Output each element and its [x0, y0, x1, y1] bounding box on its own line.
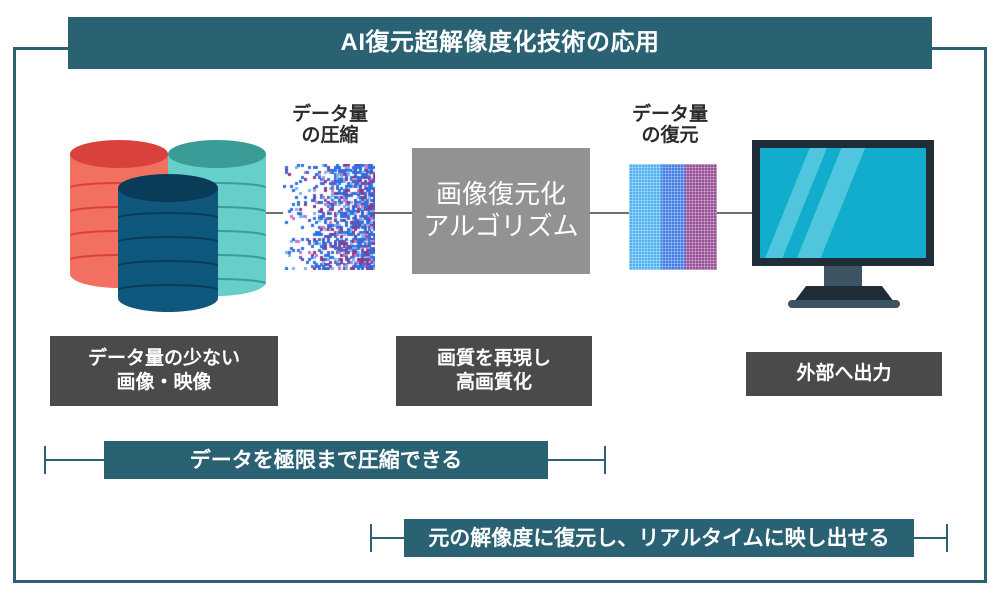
- page-title: AI復元超解像度化技術の応用: [341, 31, 660, 55]
- caption-box-middle: 画質を再現し 高画質化: [396, 336, 592, 406]
- algorithm-line2: アルゴリズム: [423, 211, 578, 243]
- database-icon: [60, 132, 280, 312]
- bracket-compression: データを極限まで圧縮できる: [44, 441, 606, 479]
- compress-label-line2: の圧縮: [268, 125, 392, 146]
- compress-step-label: データ量 の圧縮: [268, 104, 392, 147]
- bracket-label-box-compression: データを極限まで圧縮できる: [104, 441, 548, 479]
- restore-step-label: データ量 の復元: [608, 104, 732, 147]
- caption-middle-line2: 高画質化: [456, 372, 532, 393]
- outer-frame: [13, 47, 987, 583]
- monitor-neck: [824, 266, 862, 288]
- bracket-restoration-text: 元の解像度に復元し、リアルタイムに映し出せる: [428, 528, 889, 549]
- monitor-foot: [788, 300, 900, 308]
- algorithm-box: 画像復元化 アルゴリズム: [412, 148, 590, 274]
- connector-algorithm-to-grid: [589, 212, 629, 214]
- caption-middle-text: 画質を再現し 高画質化: [437, 347, 551, 395]
- caption-right-text: 外部へ出力: [796, 362, 891, 386]
- bracket-tick-right: [604, 446, 606, 474]
- caption-box-left: データ量の少ない 画像・映像: [50, 336, 278, 406]
- restored-grid-icon: [629, 164, 717, 270]
- caption-left-line1: データ量の少ない: [88, 348, 240, 369]
- bracket-restoration: 元の解像度に復元し、リアルタイムに映し出せる: [370, 519, 948, 557]
- restore-label-line1: データ量: [608, 104, 732, 125]
- database-cylinder-navy: [118, 174, 218, 312]
- caption-left-line2: 画像・映像: [116, 372, 211, 393]
- diagram-title-bar: AI復元超解像度化技術の応用: [68, 17, 932, 69]
- bracket-tick-right: [946, 524, 948, 552]
- pixel-noise-icon: [283, 164, 375, 270]
- algorithm-line1: 画像復元化: [436, 179, 566, 211]
- restore-label-line2: の復元: [608, 125, 732, 146]
- compress-label-line1: データ量: [268, 104, 392, 125]
- diagram-canvas: AI復元超解像度化技術の応用: [0, 0, 1000, 600]
- bracket-label-box-restoration: 元の解像度に復元し、リアルタイムに映し出せる: [404, 519, 914, 557]
- connector-grid-to-monitor: [716, 212, 756, 214]
- bracket-compression-text: データを極限まで圧縮できる: [190, 450, 463, 471]
- caption-box-right: 外部へ出力: [746, 352, 942, 396]
- monitor-icon: [752, 140, 948, 310]
- monitor-screen: [760, 148, 926, 258]
- connector-noise-to-algorithm: [375, 212, 413, 214]
- caption-middle-line1: 画質を再現し: [437, 348, 551, 369]
- caption-left-text: データ量の少ない 画像・映像: [88, 347, 240, 395]
